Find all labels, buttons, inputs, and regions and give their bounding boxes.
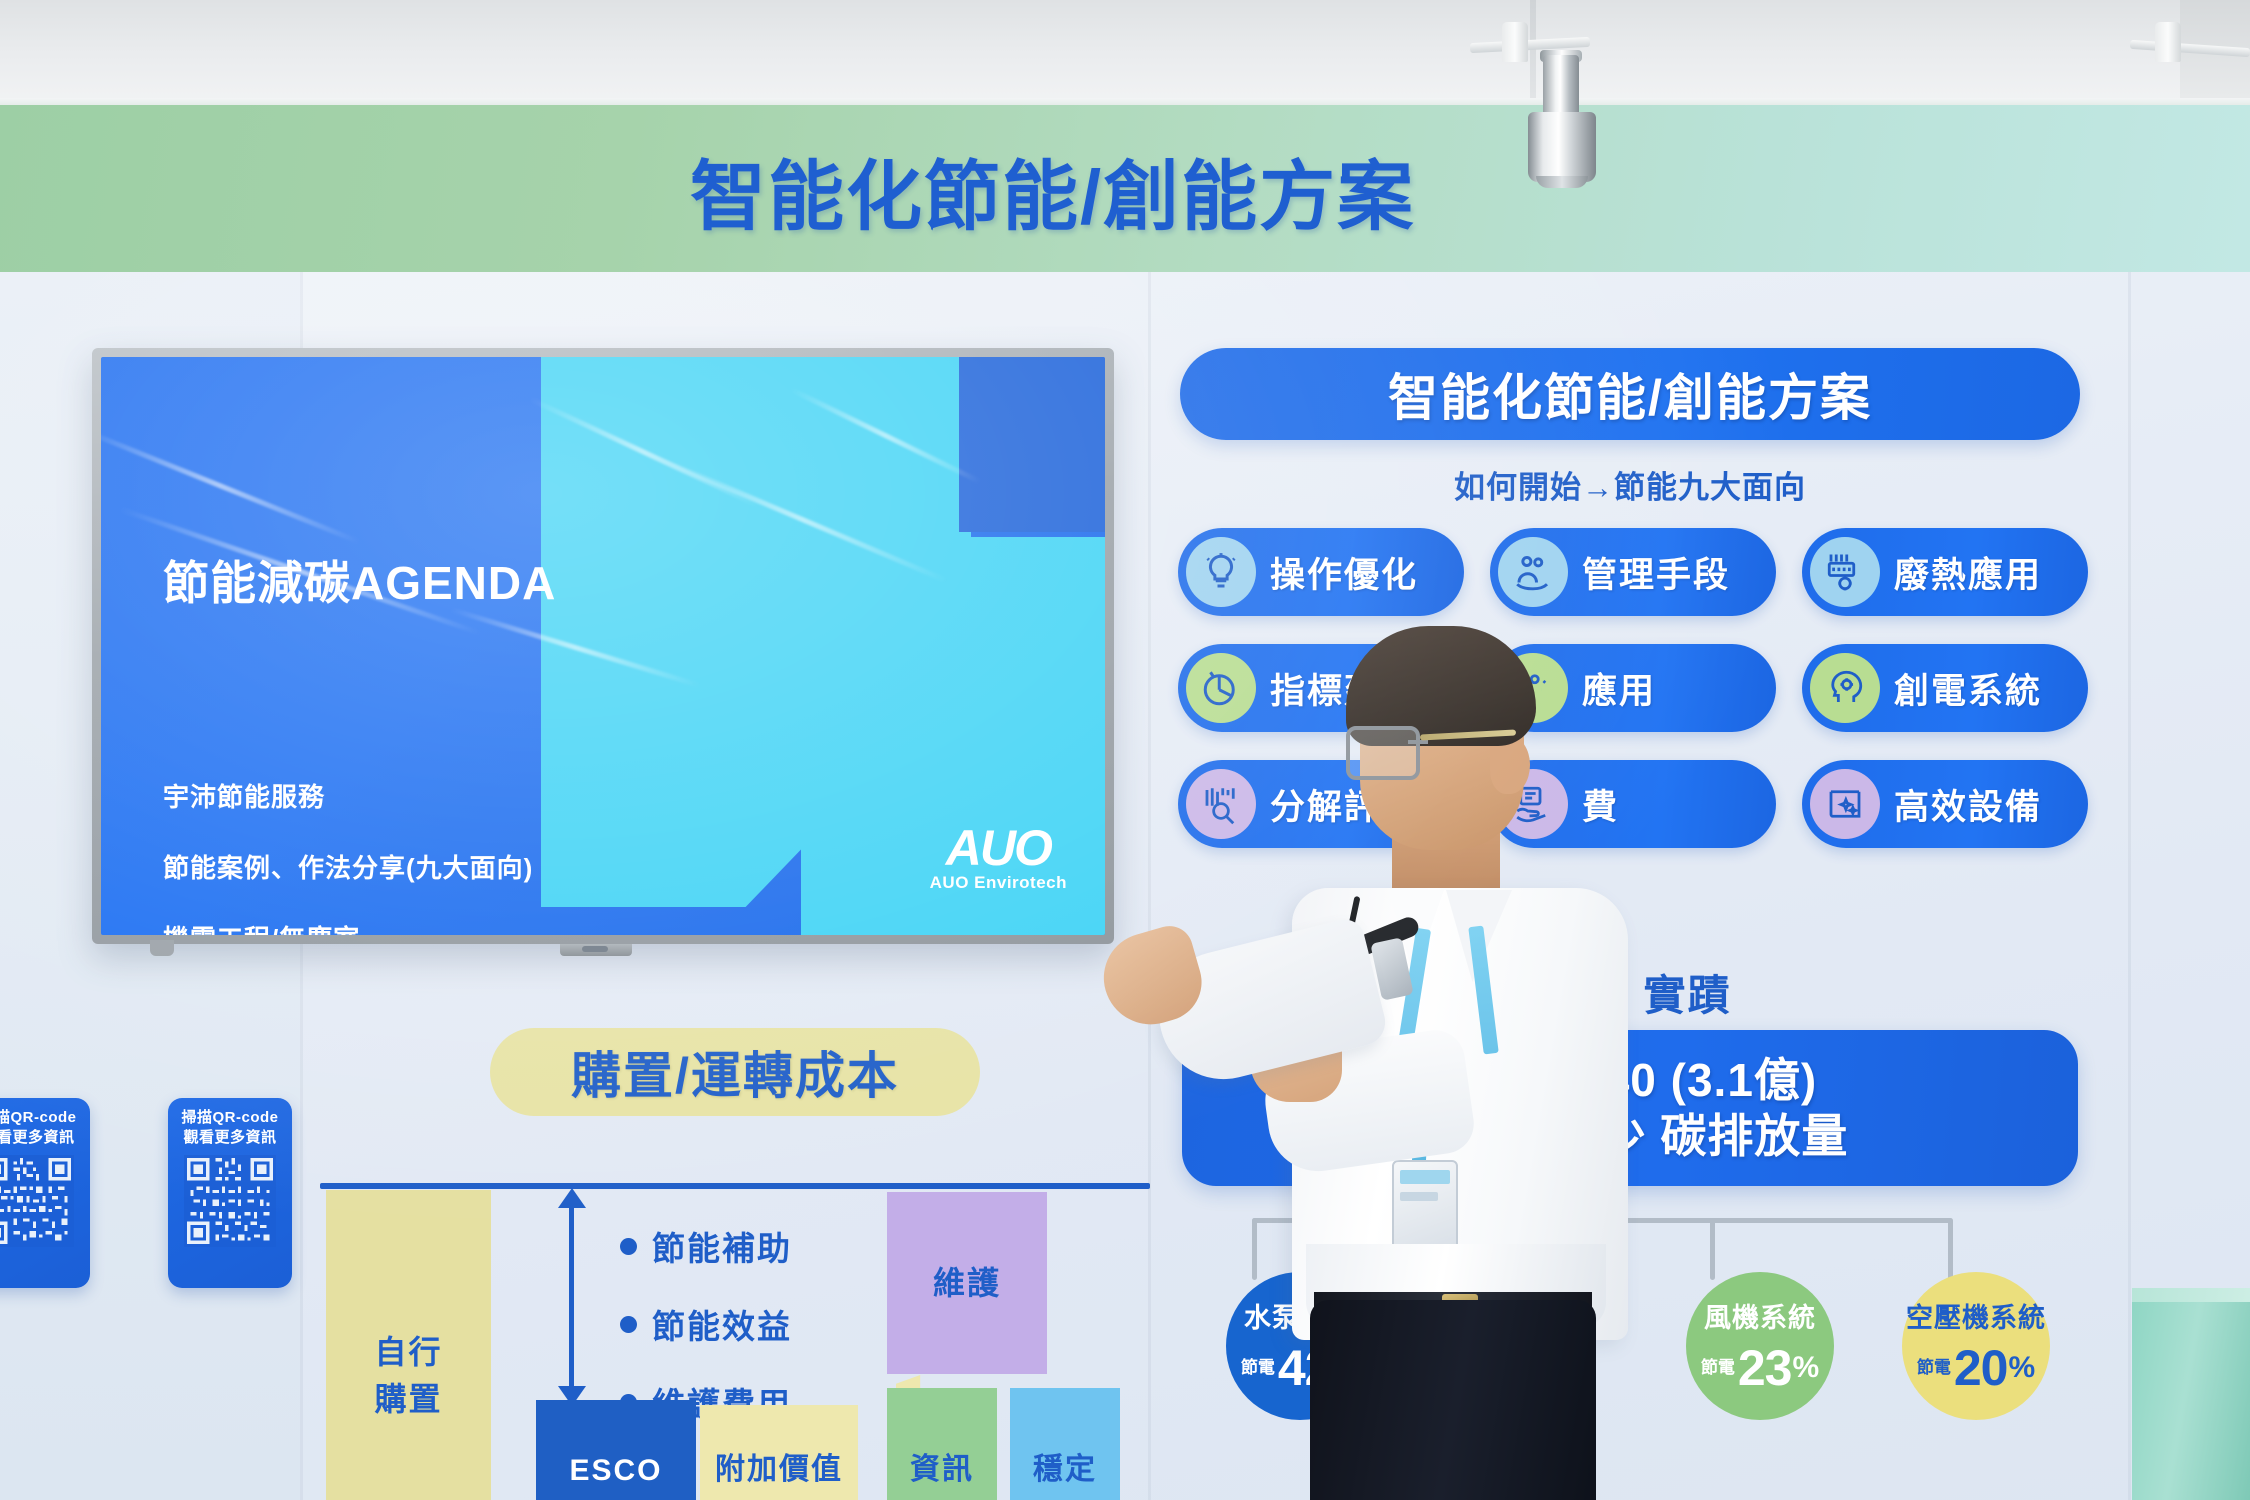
badge-photo-strip [1400,1170,1450,1184]
poster-subheadline: 如何開始→節能九大面向 [1180,462,2080,507]
cost-bar-self-purchase: 自行 購置 [326,1190,491,1500]
spotlight-head [1528,112,1596,182]
savings-circle-percent: % [1792,1351,1819,1385]
cost-bar-maintenance: 維護 [887,1192,1047,1374]
magnifier-chart-icon [1186,769,1256,839]
cost-bar-stability-label: 穩定 [1033,1444,1097,1500]
light-clamp [1502,22,1528,62]
aspect-pill-high-efficiency-equipment[interactable]: 高效設備 [1802,760,2088,848]
presenter [1280,640,1640,1500]
lightbulb-icon [1186,537,1256,607]
cost-bar-label-line1: 自行 [326,1329,491,1375]
spotlight-stem [1543,55,1579,117]
qr-card-title-line1: 掃描QR-code [0,1108,81,1128]
aspect-pill-label: 管理手段 [1582,547,1730,598]
presenter-trousers [1310,1300,1596,1500]
qr-card[interactable]: 掃描QR-code 觀看更多資訊 [168,1098,292,1288]
aspect-pill-power-generation-system[interactable]: 創電系統 [1802,644,2088,732]
slide-shape [959,357,1105,532]
slide-bullet: 機電工程/無塵室 [163,919,533,935]
slide-bullet: 宇沛節能服務 [163,777,533,814]
badge-text-strip [1400,1192,1438,1201]
qr-code-icon [0,1155,74,1247]
aspect-pill-waste-heat-utilization[interactable]: 廢熱應用 [1802,528,2088,616]
cost-benefit-label: 節能效益 [652,1300,792,1348]
cost-bar-maintenance-label: 維護 [887,1258,1047,1304]
arrow-shaft [569,1198,574,1396]
savings-circle-label: 節電 [1917,1359,1951,1376]
glasses-bridge [1408,740,1428,744]
auo-logo-mark: AUO [930,819,1067,877]
booth-banner-title: 智能化節能/創能方案 [690,135,1510,245]
light-clamp [2155,22,2181,62]
cost-benefit-item: 節能補助 [620,1222,792,1270]
poster-headline-banner: 智能化節能/創能方案 [1180,348,2080,440]
aspect-pill-label: 操作優化 [1270,547,1418,598]
qr-card-title-line2: 觀看更多資訊 [177,1128,283,1148]
factory-gear-icon [1810,537,1880,607]
cost-bar-self-purchase-label: 自行 購置 [326,1329,491,1422]
wall-seam [2128,272,2131,1500]
sparkle-panel-icon [1810,769,1880,839]
tree-branch [1710,1218,1715,1280]
slide-bullet-list: 宇沛節能服務 節能案例、作法分享(九大面向) 機電工程/無塵室 工程實蹟 [163,777,533,935]
glasses-icon [1346,726,1420,780]
savings-gap-arrow [556,1188,586,1406]
cost-bar-esco-label: ESCO [569,1454,662,1500]
aspect-pill-label: 高效設備 [1894,779,2042,830]
spotlight-lens-icon [1536,176,1588,188]
qr-card-title-line2: 觀看更多資訊 [0,1128,81,1148]
pie-chart-icon [1186,653,1256,723]
cost-panel-title-pill: 購置/運轉成本 [490,1028,980,1116]
wall-mounted-tv: 節能減碳AGENDA 宇沛節能服務 節能案例、作法分享(九大面向) 機電工程/無… [92,348,1114,944]
auo-logo: AUO AUO Envirotech [930,819,1067,893]
cost-benefit-label: 節能補助 [652,1222,792,1270]
aspect-pill-label: 廢熱應用 [1894,547,2042,598]
qr-card-title-line1: 掃描QR-code [177,1108,283,1128]
savings-circle-name: 空壓機系統 [1906,1296,2046,1335]
head-gear-icon [1810,653,1880,723]
slide-bullet: 節能案例、作法分享(九大面向) [163,848,533,885]
aspect-pill-management-methods[interactable]: 管理手段 [1490,528,1776,616]
savings-circle-label: 節電 [1701,1359,1735,1376]
cost-bar-label-line2: 購置 [326,1376,491,1422]
bullet-dot-icon [620,1316,637,1333]
cost-panel-title-text: 購置/運轉成本 [571,1036,899,1108]
exhibition-booth-photo: 智能化節能/創能方案 節能減碳AGENDA 宇沛節能服務 節能案例、作法分享(九… [0,0,2250,1500]
auo-logo-subtitle: AUO Envirotech [930,873,1067,893]
poster-headline-text: 智能化節能/創能方案 [1388,358,1872,430]
savings-circle-label: 節電 [1241,1359,1275,1376]
tree-branch [1948,1218,1953,1280]
cost-bar-information-label: 資訊 [910,1444,974,1500]
savings-circle-fan: 風機系統 節電 23 % [1686,1272,1834,1420]
tree-branch [1252,1218,1257,1280]
slide-streak [101,427,360,544]
bullet-dot-icon [620,1238,637,1255]
tv-indicator-led [582,946,608,952]
savings-circle-value: 20 [1954,1339,2008,1397]
qr-code-icon [184,1155,276,1247]
cost-bar-esco: ESCO [536,1400,696,1500]
cost-benefit-item: 節能效益 [620,1300,792,1348]
slide-title: 節能減碳AGENDA [163,547,556,613]
cost-bar-information: 資訊 [887,1388,997,1500]
qr-card[interactable]: 掃描QR-code 觀看更多資訊 [0,1098,90,1288]
cost-bar-added-value-label: 附加價值 [715,1444,843,1500]
aspect-pill-label: 創電系統 [1894,663,2042,714]
savings-circle-percent: % [2008,1351,2035,1385]
savings-circle-air-compressor: 空壓機系統 節電 20 % [1902,1272,2050,1420]
display-pedestal [2132,1302,2250,1500]
savings-circle-name: 風機系統 [1704,1296,1816,1335]
tv-wall-hook [150,940,174,956]
people-hand-icon [1498,537,1568,607]
wall-seam [1148,272,1151,1500]
savings-circle-value: 23 [1738,1339,1792,1397]
tv-screen: 節能減碳AGENDA 宇沛節能服務 節能案例、作法分享(九大面向) 機電工程/無… [101,357,1105,935]
cost-bar-added-value: 附加價值 [700,1405,858,1500]
aspect-pill-operation-optimization[interactable]: 操作優化 [1178,528,1464,616]
cost-chart-top-axis [320,1183,1150,1189]
cost-bar-stability: 穩定 [1010,1388,1120,1500]
